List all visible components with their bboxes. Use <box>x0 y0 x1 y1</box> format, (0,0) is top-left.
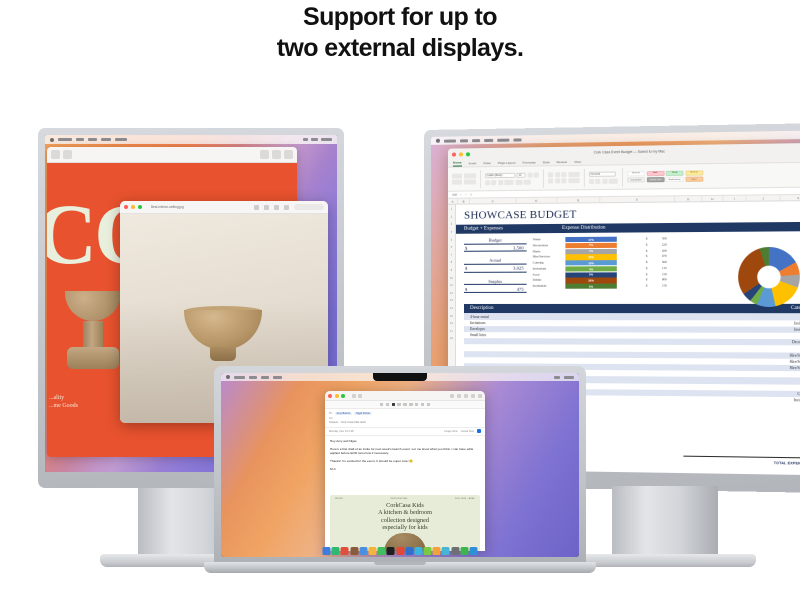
distribution-category: Incidentals <box>533 284 564 289</box>
clock-time[interactable] <box>321 138 332 141</box>
mail-body[interactable]: Hey Amy and Nigel, Here's a first draft … <box>325 436 485 475</box>
mail-greeting: Hey Amy and Nigel, <box>330 439 480 444</box>
sheet-title: SHOWCASE BUDGET <box>456 201 800 225</box>
preview-search-input[interactable] <box>294 204 324 210</box>
percent-button[interactable] <box>595 178 600 183</box>
row-13[interactable]: 13 <box>448 297 455 305</box>
kpi-budget-value: $ 3,500 <box>464 244 527 252</box>
rotate-icon[interactable] <box>284 205 289 210</box>
align-top-button[interactable] <box>548 179 553 184</box>
distribution-category: Invitations <box>533 266 564 271</box>
tab-home[interactable]: Home <box>453 160 462 166</box>
invite-top-row: INVITE INTRODUCING NOV 2024 · APAC <box>330 495 480 500</box>
invite-top-left: INVITE <box>335 498 343 500</box>
distribution-bar: 7% <box>565 243 616 249</box>
distribution-amount: $220 <box>646 242 667 247</box>
apple-logo-icon[interactable] <box>226 375 230 379</box>
dock-app-icon[interactable] <box>323 547 331 555</box>
menu-item-window[interactable] <box>497 138 509 141</box>
poster-subtitle: ...ality ...me Goods <box>49 394 78 411</box>
ribbon-divider <box>480 170 481 188</box>
distribution-category: Venue <box>533 237 564 242</box>
apple-logo-icon[interactable] <box>436 139 440 143</box>
ribbon-group-number[interactable]: General <box>588 171 617 184</box>
col-F[interactable]: F <box>600 196 675 202</box>
style-calculation[interactable]: Calculation <box>627 178 645 183</box>
laptop-base-notch <box>374 562 426 565</box>
row-9[interactable]: 9 <box>448 267 455 275</box>
emoji-icon[interactable] <box>457 394 461 398</box>
align-right-button[interactable] <box>561 172 566 177</box>
minimize-icon[interactable] <box>131 205 135 209</box>
col-G[interactable]: G <box>675 196 702 201</box>
copy-button[interactable] <box>452 180 462 185</box>
col-B[interactable]: B <box>458 199 470 204</box>
menu-item-edit[interactable] <box>472 139 480 142</box>
send-icon[interactable] <box>352 394 356 398</box>
subject-value[interactable]: Cork Casa Kids draft <box>341 421 366 424</box>
image-size-value[interactable]: Actual Size <box>461 430 474 433</box>
recipient-chip[interactable]: Nigel Fisher <box>354 412 372 416</box>
close-icon[interactable] <box>124 205 128 209</box>
distribution-bar: 5% <box>565 284 616 289</box>
mail-format-toolbar[interactable] <box>325 401 485 409</box>
poster-vessel-base <box>67 347 119 369</box>
cell-category: Invitations <box>794 328 800 332</box>
row-17[interactable]: 17 <box>448 328 455 336</box>
col-C[interactable]: C <box>470 198 516 204</box>
row-14[interactable]: 14 <box>448 305 455 313</box>
tools-icon[interactable] <box>51 150 60 159</box>
dock-app-icon[interactable] <box>460 547 468 555</box>
distribution-bar: 5% <box>565 272 616 277</box>
border-button[interactable] <box>504 179 513 184</box>
page-title: Support for up to two external displays. <box>0 2 800 64</box>
control-center-icon[interactable] <box>311 138 318 141</box>
maximize-icon[interactable] <box>341 394 345 398</box>
distribution-bars: 17%7%7%16%10%4%5%30%5% <box>565 237 616 300</box>
cut-button[interactable] <box>464 173 476 178</box>
cell-description: 4-hour rental <box>470 315 489 319</box>
row-15[interactable]: 15 <box>448 312 455 320</box>
italic-icon[interactable] <box>403 403 406 406</box>
distribution-category: Hire/Services <box>533 255 564 260</box>
distribution-category: Catering <box>533 260 564 265</box>
ribbon-divider <box>622 168 623 186</box>
distribution-amount: $150 <box>646 284 667 289</box>
format-icon[interactable] <box>450 394 454 398</box>
ribbon-divider <box>543 169 544 187</box>
photo-icon[interactable] <box>464 394 468 398</box>
merge-center-button[interactable] <box>568 178 579 183</box>
excel-document-title: Cork Casa Event Budget — Saved to my Mac <box>448 147 800 157</box>
row-6[interactable]: 6 <box>448 244 455 252</box>
row-10[interactable]: 10 <box>448 274 455 282</box>
font-size-icon[interactable] <box>386 403 389 406</box>
markup-icon[interactable] <box>274 205 279 210</box>
distribution-amount: $200 <box>646 248 667 253</box>
cell-description: Invitations <box>470 321 485 325</box>
subject-field[interactable]: Subject: Cork Casa Kids draft <box>329 420 481 424</box>
distribution-bar: 4% <box>565 266 616 271</box>
row-16[interactable]: 16 <box>448 320 455 328</box>
dock-app-icon[interactable] <box>387 547 395 555</box>
amount: 475 <box>517 286 524 291</box>
dock-app-icon[interactable] <box>442 547 450 555</box>
invite-top-center: INTRODUCING <box>391 498 408 500</box>
mail-signature: M-C <box>330 467 480 472</box>
style-input[interactable]: Input <box>685 177 703 182</box>
align-middle-button[interactable] <box>555 179 560 184</box>
align-center-button[interactable] <box>555 172 560 177</box>
decimal-buttons[interactable] <box>609 178 618 183</box>
tab-data[interactable]: Data <box>543 160 550 165</box>
mail-date: Monday, Nov 13 2:48 <box>329 430 353 433</box>
macos-dock[interactable] <box>322 546 479 556</box>
row-3[interactable]: 3 <box>448 221 455 229</box>
menu-item-window[interactable] <box>115 138 127 141</box>
invite-headline-line-2: A kitchen & bedroom <box>330 509 480 517</box>
paste-button[interactable] <box>452 173 462 178</box>
col-E[interactable]: E <box>557 197 600 203</box>
amount: 3,025 <box>513 266 523 271</box>
col-K[interactable]: K <box>781 195 800 201</box>
cell-category: Incidentals <box>794 398 800 402</box>
section-expense-distribution: Expense Distribution <box>562 226 606 231</box>
dock-app-icon[interactable] <box>332 547 340 555</box>
font-select-icon[interactable] <box>380 403 383 406</box>
mail-paragraph-1: Here's a first draft of an invite for ne… <box>330 447 480 457</box>
image-size-label: Image Size: <box>444 430 458 433</box>
distribution-bar: 30% <box>565 278 616 283</box>
menu-item-view[interactable] <box>101 138 111 141</box>
expense-table-header: Description Category <box>464 304 800 313</box>
menu-item-view[interactable] <box>484 138 493 141</box>
row-18[interactable]: 18 <box>448 335 455 343</box>
wifi-icon[interactable] <box>303 138 308 141</box>
control-center-icon[interactable] <box>554 376 560 379</box>
ribbon-group-font[interactable]: Calibri (Body) 12 <box>485 172 539 185</box>
invite-top-right: NOV 2024 · APAC <box>455 498 475 500</box>
to-label: To: <box>329 412 333 415</box>
dock-app-icon[interactable] <box>470 547 478 555</box>
mail-meta-row: Monday, Nov 13 2:48 Image Size: Actual S… <box>325 428 485 436</box>
dock-app-icon[interactable] <box>424 547 432 555</box>
format-painter-button[interactable] <box>464 180 476 185</box>
dock-app-icon[interactable] <box>368 547 376 555</box>
macbook-laptop: To: Amy Burton Nigel Fisher Cc: Subject:… <box>214 366 586 578</box>
comma-button[interactable] <box>602 178 607 183</box>
marketing-screenshot: Support for up to two external displays. <box>0 0 800 600</box>
col-I[interactable]: I <box>723 196 746 201</box>
cell-category: Decorations <box>792 340 800 344</box>
row-1[interactable]: 1 <box>448 206 455 214</box>
mail-titlebar[interactable] <box>325 391 485 401</box>
style-neutral[interactable]: Neutral <box>685 170 703 175</box>
markup-icon[interactable] <box>471 394 475 398</box>
formula-input[interactable] <box>475 191 800 195</box>
row-4[interactable]: 4 <box>448 229 455 237</box>
dock-app-icon[interactable] <box>396 547 404 555</box>
preview-window-title: Best-interior-setting.jpg <box>151 205 184 209</box>
menu-item-edit[interactable] <box>261 376 269 379</box>
distribution-bar: 16% <box>565 254 616 260</box>
bowl-foot <box>210 347 236 361</box>
increase-font-button[interactable] <box>527 172 532 177</box>
tab-formulas[interactable]: Formulas <box>523 160 536 165</box>
tab-draw[interactable]: Draw <box>483 161 490 166</box>
distribution-category: Decorations <box>533 243 564 248</box>
tab-insert[interactable]: Insert <box>469 161 477 166</box>
col-H[interactable]: H <box>702 196 723 201</box>
cell-category: Hire/Services <box>790 353 800 357</box>
row-11[interactable]: 11 <box>448 282 455 290</box>
style-explanatory[interactable]: Explanatory <box>666 177 684 182</box>
distribution-amount: $470 <box>646 254 667 259</box>
menu-item-file[interactable] <box>76 138 84 141</box>
invite-headline: CorkCasa Kids A kitchen & bedroom collec… <box>330 502 480 532</box>
elements-icon[interactable] <box>63 150 72 159</box>
attach-icon[interactable] <box>358 394 362 398</box>
section-budget-expenses: Budget + Expenses <box>464 226 503 231</box>
number-format-select[interactable]: General <box>588 171 615 177</box>
font-name-field[interactable]: Calibri (Body) <box>485 172 515 178</box>
underline-button[interactable] <box>498 180 503 185</box>
header-category: Category <box>791 306 800 311</box>
distribution-amount: $900 <box>646 278 667 283</box>
kpi-actual-value: $ 3,025 <box>464 265 527 273</box>
menu-item-file[interactable] <box>460 139 468 142</box>
tab-view[interactable]: View <box>574 160 581 165</box>
fill-color-button[interactable] <box>515 179 522 184</box>
row-7[interactable]: 7 <box>448 251 455 259</box>
apple-logo-icon[interactable] <box>50 138 54 142</box>
invite-headline-line-1: CorkCasa Kids <box>330 502 480 510</box>
menu-item-view[interactable] <box>273 376 282 379</box>
align-icon[interactable] <box>421 403 424 406</box>
poster-vessel-stem <box>83 321 103 347</box>
kpi-surplus-value: $ 475 <box>464 285 527 293</box>
distribution-category: Food <box>533 272 564 277</box>
distribution-category: Drinks <box>533 278 564 283</box>
cell-description: Envelopes <box>470 327 485 331</box>
currency-symbol: $ <box>465 287 467 292</box>
export-icon[interactable] <box>284 150 293 159</box>
menu-item-edit[interactable] <box>88 138 97 141</box>
close-icon[interactable] <box>328 394 332 398</box>
currency-symbol: $ <box>465 245 467 250</box>
expense-distribution: VenueDecorationsMusicHire/ServicesCateri… <box>533 236 667 299</box>
text-color-icon[interactable] <box>392 403 395 406</box>
cell-category: Invitations <box>794 321 800 325</box>
menu-item-help[interactable] <box>513 138 521 141</box>
invite-headline-line-4: especially for kids <box>330 524 480 532</box>
dock-app-icon[interactable] <box>378 547 386 555</box>
sidebar-icon[interactable] <box>254 205 259 210</box>
expense-donut-chart <box>738 247 800 307</box>
distribution-amount: $135 <box>646 266 667 271</box>
mail-paragraph-2: Thanks! I'm excited for the event. It sh… <box>330 459 480 464</box>
menu-item-excel[interactable] <box>444 139 456 142</box>
right-display-stand-neck <box>612 486 718 554</box>
tab-page-layout[interactable]: Page Layout <box>498 161 516 166</box>
style-normal[interactable]: Normal <box>627 171 645 176</box>
distribution-bar: 10% <box>565 260 616 265</box>
cell-description: Small bites <box>470 333 486 337</box>
camera-notch <box>373 373 427 381</box>
currency-button[interactable] <box>588 178 593 183</box>
distribution-categories: VenueDecorationsMusicHire/ServicesCateri… <box>533 237 564 299</box>
dock-app-icon[interactable] <box>359 547 367 555</box>
headline-line-2: two external displays. <box>0 33 800 64</box>
row-8[interactable]: 8 <box>448 259 455 267</box>
wrap-text-button[interactable] <box>568 172 579 177</box>
currency-symbol: $ <box>465 266 467 271</box>
name-box[interactable]: A28 <box>452 193 457 197</box>
list-icon[interactable] <box>415 403 418 406</box>
underline-icon[interactable] <box>409 403 412 406</box>
style-bad[interactable]: Bad <box>646 171 664 176</box>
tab-review[interactable]: Review <box>557 160 567 165</box>
dock-app-icon[interactable] <box>414 547 422 555</box>
poster-vessel-top <box>65 291 121 321</box>
bold-icon[interactable] <box>397 403 400 406</box>
minimize-icon[interactable] <box>335 394 339 398</box>
cell-category: Hire/Services <box>790 366 800 370</box>
indent-icon[interactable] <box>427 403 430 406</box>
recipient-chip[interactable]: Amy Burton <box>335 412 353 416</box>
distribution-bar: 17% <box>565 237 616 243</box>
kpi-group: Budget $ 3,500 Actual $ 3,025 <box>464 237 527 299</box>
distribution-amount: $500 <box>646 236 667 241</box>
zoom-icon[interactable] <box>264 205 269 210</box>
col-A[interactable]: A <box>448 199 458 204</box>
laptop-lid: To: Amy Burton Nigel Fisher Cc: Subject:… <box>214 366 586 566</box>
row-2[interactable]: 2 <box>448 213 455 221</box>
style-good[interactable]: Good <box>666 170 684 175</box>
menu-item-app[interactable] <box>58 138 72 141</box>
mail-compose-window[interactable]: To: Amy Burton Nigel Fisher Cc: Subject:… <box>325 391 485 551</box>
preview-titlebar[interactable]: Best-interior-setting.jpg <box>120 201 328 214</box>
distribution-bar: 7% <box>565 248 616 254</box>
more-icon[interactable] <box>478 394 482 398</box>
right-display-stand-foot <box>574 554 756 567</box>
distribution-category: Music <box>533 249 564 254</box>
clock-time[interactable] <box>564 376 574 379</box>
invite-headline-line-3: collection designed <box>330 517 480 525</box>
row-5[interactable]: 5 <box>448 236 455 244</box>
headline-line-1: Support for up to <box>303 3 497 31</box>
ribbon-group-alignment[interactable] <box>548 172 579 184</box>
dock-app-icon[interactable] <box>405 547 413 555</box>
poster-subtitle-line-1: ...ality <box>49 394 78 403</box>
col-J[interactable]: J <box>747 195 781 201</box>
cc-label: Cc: <box>329 417 333 420</box>
dock-app-icon[interactable] <box>451 547 459 555</box>
row-12[interactable]: 12 <box>448 289 455 297</box>
image-size-select-icon[interactable] <box>477 429 481 433</box>
ribbon-group-styles[interactable]: Normal Bad Good Neutral Calculation Chec… <box>627 170 703 183</box>
italic-button[interactable] <box>491 180 496 185</box>
col-D[interactable]: D <box>516 198 557 203</box>
font-size-field[interactable]: 12 <box>516 172 525 178</box>
total-expense-label: TOTAL EXPENSE <box>774 461 800 466</box>
menu-item-file[interactable] <box>249 376 257 379</box>
design-app-toolbar[interactable] <box>47 147 297 163</box>
distribution-amounts: $500$220$200$470$300$135$150$900$150 <box>646 236 667 299</box>
dock-app-icon[interactable] <box>341 547 349 555</box>
dock-app-icon[interactable] <box>350 547 358 555</box>
laptop-screen: To: Amy Burton Nigel Fisher Cc: Subject:… <box>221 373 579 557</box>
total-divider <box>683 456 800 459</box>
style-check-cell[interactable]: Check Cell <box>646 177 664 182</box>
bold-button[interactable] <box>485 180 490 185</box>
menu-item-mail[interactable] <box>234 376 245 379</box>
font-color-button[interactable] <box>524 179 531 184</box>
distribution-amount: $150 <box>646 272 667 277</box>
maximize-icon[interactable] <box>138 205 142 209</box>
subject-label: Subject: <box>329 421 339 424</box>
header-description: Description <box>470 306 494 311</box>
poster-subtitle-line-2: ...me Goods <box>49 402 78 411</box>
distribution-amount: $300 <box>646 260 667 265</box>
ribbon-divider <box>583 168 584 186</box>
ribbon-group-clipboard[interactable] <box>452 173 476 185</box>
dock-app-icon[interactable] <box>433 547 441 555</box>
align-left-button[interactable] <box>548 172 553 177</box>
preview-icon[interactable] <box>272 150 281 159</box>
cell-category: Hire/Services <box>790 360 800 364</box>
share-icon[interactable] <box>260 150 269 159</box>
invite-attachment[interactable]: INVITE INTRODUCING NOV 2024 · APAC CorkC… <box>330 495 480 551</box>
align-bottom-button[interactable] <box>561 178 566 183</box>
amount: 3,500 <box>513 245 523 250</box>
mail-header-fields[interactable]: To: Amy Burton Nigel Fisher Cc: Subject:… <box>325 409 485 428</box>
decrease-font-button[interactable] <box>534 172 539 177</box>
left-menu-bar[interactable] <box>45 135 337 144</box>
